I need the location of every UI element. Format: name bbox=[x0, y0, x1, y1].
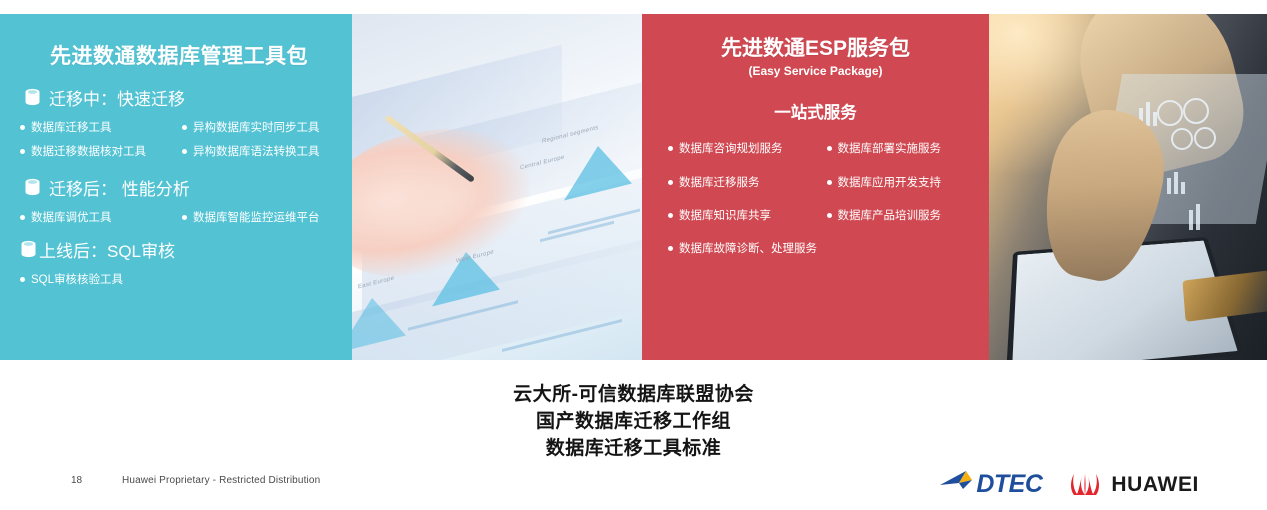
left-product-panel: 先进数通数据库管理工具包 迁移中：快速迁移 数据库迁移工具 bbox=[0, 14, 352, 360]
section-heading-performance: 迁移后： 性能分析 bbox=[24, 175, 340, 200]
list-item-label: SQL审核核验工具 bbox=[31, 273, 123, 287]
huawei-wordmark: HUAWEI bbox=[1111, 474, 1199, 495]
list-item-label: 数据库知识库共享 bbox=[679, 209, 771, 223]
database-icon bbox=[24, 178, 41, 197]
list-item: SQL审核核验工具 bbox=[20, 273, 340, 287]
list-item: 数据库部署实施服务 bbox=[827, 142, 976, 156]
list-item: 异构数据库语法转换工具 bbox=[182, 145, 340, 159]
photo-hud-bar bbox=[1196, 204, 1200, 230]
dtec-logo: DTEC bbox=[939, 469, 1042, 500]
huawei-logo: HUAWEI bbox=[1068, 468, 1199, 501]
caption-line-3: 数据库迁移工具标准 bbox=[0, 436, 1267, 463]
photo-hud-ring bbox=[1194, 127, 1216, 149]
photo-hud-bar bbox=[1146, 102, 1150, 126]
photo-hud-ring bbox=[1157, 100, 1183, 126]
bullet-dot-icon bbox=[20, 125, 25, 130]
bullet-dot-icon bbox=[182, 215, 187, 220]
section-heading-sql-review: 上线后：SQL审核 bbox=[20, 237, 340, 262]
middle-photo: Regional segments Central Europe West Eu… bbox=[352, 14, 642, 360]
logo-group: DTEC HUAWEI bbox=[939, 468, 1199, 501]
list-item-label: 数据库迁移服务 bbox=[679, 176, 760, 190]
huawei-flower-icon bbox=[1068, 468, 1102, 501]
caption-line-1: 云大所-可信数据库联盟协会 bbox=[0, 382, 1267, 409]
dtec-mark-icon bbox=[939, 469, 975, 500]
photo-hud-bar bbox=[1174, 172, 1178, 194]
list-item: 数据迁移数据核对工具 bbox=[20, 145, 178, 159]
left-panel-title: 先进数通数据库管理工具包 bbox=[18, 44, 340, 69]
bullet-dot-icon bbox=[182, 149, 187, 154]
list-item-label: 数据库咨询规划服务 bbox=[679, 142, 783, 156]
photo-hud-ring bbox=[1171, 128, 1193, 150]
database-icon bbox=[24, 88, 41, 107]
list-item-label: 数据库部署实施服务 bbox=[838, 142, 942, 156]
right-panel-mid-heading: 一站式服务 bbox=[656, 99, 975, 123]
service-bullets: 数据库咨询规划服务 数据库部署实施服务 数据库迁移服务 数据库应用开发支持 数据… bbox=[656, 142, 975, 257]
list-item-label: 数据库故障诊断、处理服务 bbox=[679, 242, 817, 256]
list-item: 数据库产品培训服务 bbox=[827, 209, 976, 223]
photo-credit-card bbox=[1182, 270, 1267, 321]
bullet-dot-icon bbox=[20, 277, 25, 282]
bullet-dot-icon bbox=[827, 213, 832, 218]
list-item-label: 异构数据库语法转换工具 bbox=[193, 145, 320, 159]
list-item-label: 数据迁移数据核对工具 bbox=[31, 145, 146, 159]
right-photo bbox=[989, 14, 1267, 360]
list-item-label: 数据库产品培训服务 bbox=[838, 209, 942, 223]
bullet-dot-icon bbox=[668, 213, 673, 218]
list-item: 数据库迁移工具 bbox=[20, 121, 178, 135]
caption-line-2: 国产数据库迁移工作组 bbox=[0, 409, 1267, 436]
list-item-label: 数据库应用开发支持 bbox=[838, 176, 942, 190]
list-item-label: 数据库迁移工具 bbox=[31, 121, 112, 135]
bullet-dot-icon bbox=[668, 246, 673, 251]
list-item: 数据库智能监控运维平台 bbox=[182, 211, 340, 225]
section-heading-migration: 迁移中：快速迁移 bbox=[24, 85, 340, 110]
list-item: 数据库应用开发支持 bbox=[827, 176, 976, 190]
slide-footer: 18 Huawei Proprietary - Restricted Distr… bbox=[0, 464, 1267, 510]
list-item-label: 异构数据库实时同步工具 bbox=[193, 121, 320, 135]
right-panel-title: 先进数通ESP服务包 bbox=[656, 36, 975, 61]
page-number: 18 bbox=[71, 475, 82, 486]
caption-block: 云大所-可信数据库联盟协会 国产数据库迁移工作组 数据库迁移工具标准 bbox=[0, 382, 1267, 463]
photo-hud-bar bbox=[1189, 210, 1193, 230]
bullet-dot-icon bbox=[668, 146, 673, 151]
photo-hud-bar bbox=[1167, 178, 1171, 194]
list-item: 数据库故障诊断、处理服务 bbox=[668, 242, 975, 256]
photo-hud-ring bbox=[1183, 98, 1209, 124]
section-heading-label: 迁移中：快速迁移 bbox=[49, 85, 185, 110]
section-bullets-performance: 数据库调优工具 数据库智能监控运维平台 bbox=[20, 211, 340, 225]
section-heading-label: 迁移后： 性能分析 bbox=[49, 175, 190, 200]
list-item: 数据库知识库共享 bbox=[668, 209, 817, 223]
dtec-wordmark: DTEC bbox=[976, 472, 1042, 497]
bullet-dot-icon bbox=[668, 180, 673, 185]
right-panel-subtitle: (Easy Service Package) bbox=[656, 64, 975, 78]
section-heading-label: 上线后：SQL审核 bbox=[39, 237, 175, 262]
list-item: 异构数据库实时同步工具 bbox=[182, 121, 340, 135]
right-service-panel: 先进数通ESP服务包 (Easy Service Package) 一站式服务 … bbox=[642, 14, 989, 360]
database-icon bbox=[20, 240, 37, 259]
photo-hud-bar bbox=[1181, 182, 1185, 194]
section-bullets-sql-review: SQL审核核验工具 bbox=[20, 273, 340, 287]
list-item: 数据库迁移服务 bbox=[668, 176, 817, 190]
bullet-dot-icon bbox=[20, 215, 25, 220]
list-item-label: 数据库调优工具 bbox=[31, 211, 112, 225]
list-item: 数据库咨询规划服务 bbox=[668, 142, 817, 156]
list-item-label: 数据库智能监控运维平台 bbox=[193, 211, 320, 225]
slide-canvas: 先进数通数据库管理工具包 迁移中：快速迁移 数据库迁移工具 bbox=[0, 0, 1267, 510]
section-bullets-migration: 数据库迁移工具 异构数据库实时同步工具 数据迁移数据核对工具 异构数据库语法转换… bbox=[20, 121, 340, 159]
bullet-dot-icon bbox=[182, 125, 187, 130]
list-item: 数据库调优工具 bbox=[20, 211, 178, 225]
copyright-notice: Huawei Proprietary - Restricted Distribu… bbox=[122, 475, 320, 486]
bullet-dot-icon bbox=[827, 180, 832, 185]
bullet-dot-icon bbox=[827, 146, 832, 151]
bullet-dot-icon bbox=[20, 149, 25, 154]
banner-strip: 先进数通数据库管理工具包 迁移中：快速迁移 数据库迁移工具 bbox=[0, 14, 1267, 360]
